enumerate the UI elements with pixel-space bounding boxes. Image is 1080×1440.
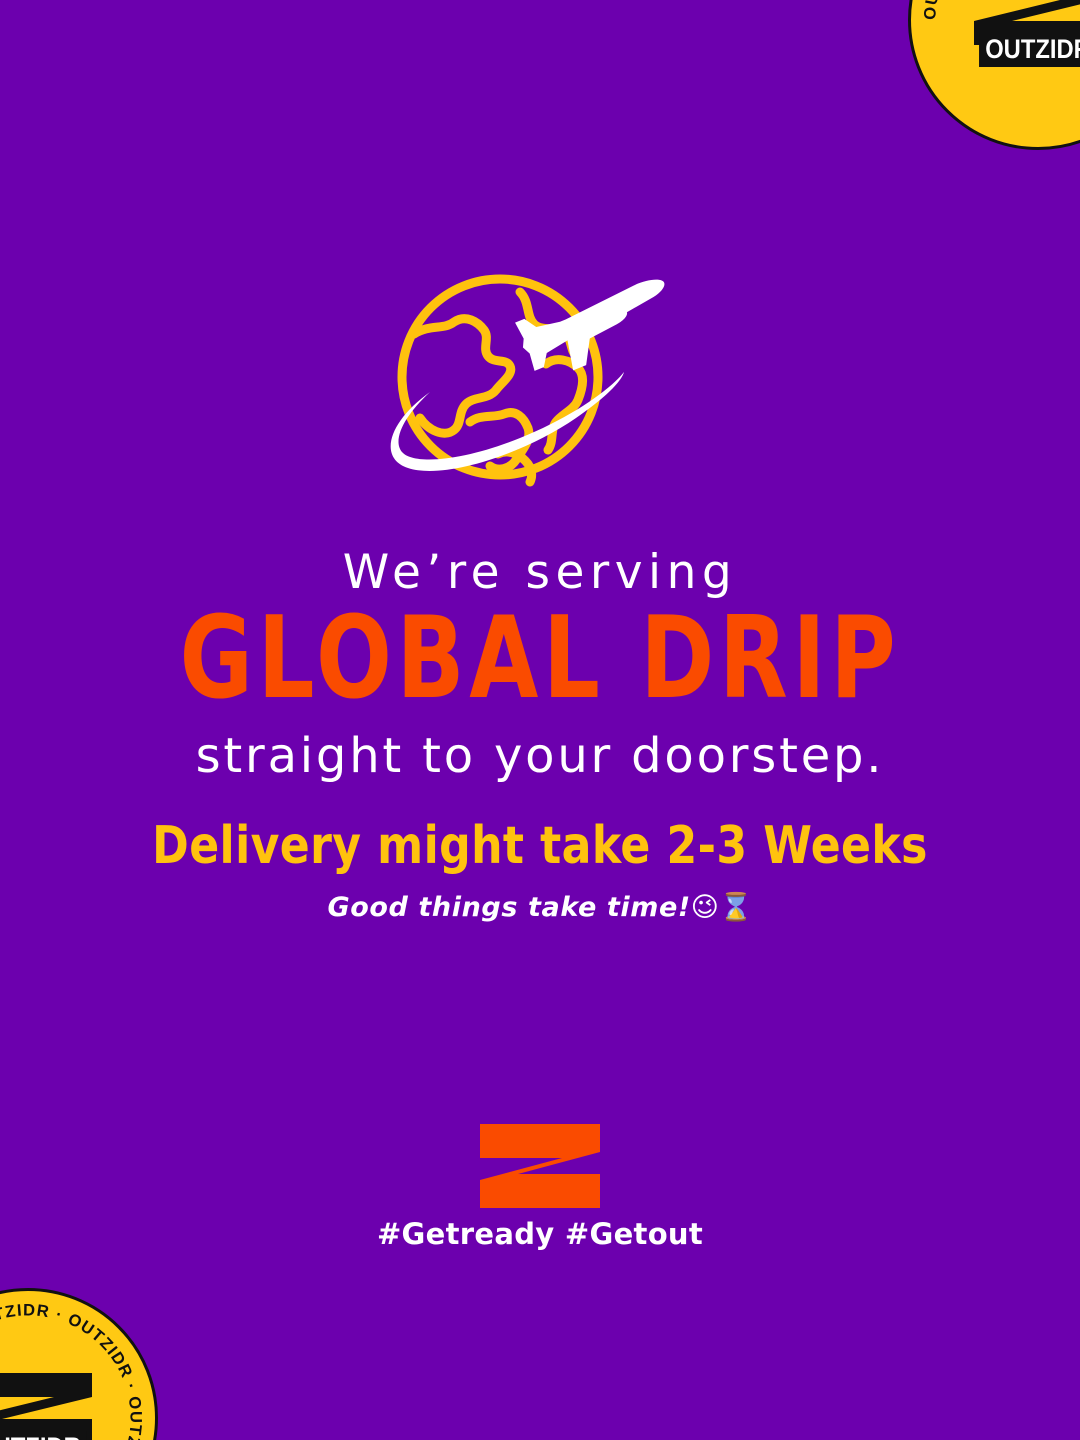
eyebrow-text: We’re serving <box>0 548 1080 597</box>
delivery-reassurance: Good things take time!😉⌛ <box>0 893 1080 923</box>
headline-block: We’re serving GLOBAL DRIP straight to yo… <box>0 548 1080 782</box>
hashtags-text: #Getready #Getout <box>377 1220 703 1249</box>
delivery-block: Delivery might take 2-3 Weeks Good thing… <box>0 820 1080 922</box>
seal-wordmark-top-right: OUTZIDR <box>979 33 1080 67</box>
delivery-notice: Delivery might take 2-3 Weeks <box>22 817 1059 874</box>
wink-emoji-icon: 😉 <box>691 892 719 923</box>
outzidr-z-logo <box>478 1122 602 1210</box>
page-title: GLOBAL DRIP <box>38 603 1042 714</box>
outzidr-seal-top-right: OUTZIDR · OUTZIDR · OUTZIDR · OUTZIDR · … <box>908 0 1080 150</box>
delivery-reassurance-text: Good things take time! <box>327 892 690 923</box>
globe-airplane-icon <box>370 272 710 492</box>
outzidr-seal-bottom-left: OUTZIDR · OUTZIDR · OUTZIDR · OUTZIDR · … <box>0 1288 158 1440</box>
footer-block: #Getready #Getout <box>0 1122 1080 1249</box>
hero-graphic <box>0 272 1080 492</box>
hourglass-emoji-icon: ⌛ <box>719 892 753 923</box>
subtitle-text: straight to your doorstep. <box>0 731 1080 781</box>
poster-canvas: OUTZIDR · OUTZIDR · OUTZIDR · OUTZIDR · … <box>0 0 1080 1440</box>
seal-wordmark-bottom-left: OUTZIDR <box>0 1431 87 1440</box>
seal-core-top-right: OUTZIDR <box>962 0 1080 67</box>
seal-z-icon-bottom-left <box>0 1371 98 1440</box>
seal-core-bottom-left: OUTZIDR <box>0 1371 104 1440</box>
